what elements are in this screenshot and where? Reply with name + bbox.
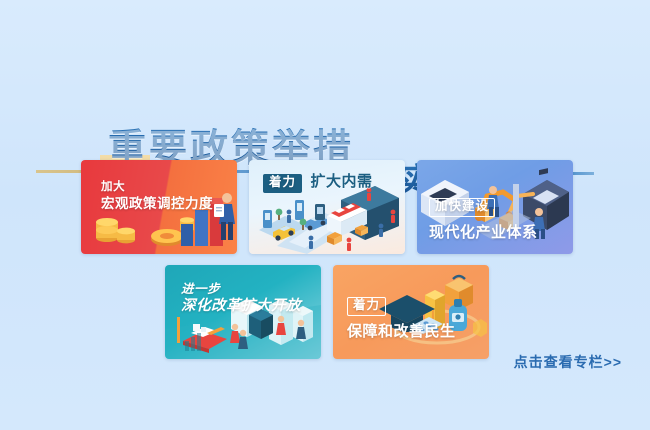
- card-expand-demand[interactable]: 着力 扩大内需: [249, 160, 405, 254]
- card-macro-policy-line2: 宏观政策调控力度: [101, 195, 213, 212]
- card-macro-policy-label: 加大 宏观政策调控力度: [101, 180, 213, 212]
- title-area: 重要政策举措 及实施效果: [0, 55, 650, 150]
- card-macro-policy[interactable]: 加大 宏观政策调控力度: [81, 160, 237, 254]
- card-peoples-livelihood-line2: 保障和改善民生: [347, 322, 456, 341]
- card-modern-industry-line1: 加快建设: [429, 198, 495, 217]
- card-peoples-livelihood[interactable]: 着力 保障和改善民生: [333, 265, 489, 359]
- card-modern-industry-line2: 现代化产业体系: [429, 223, 538, 242]
- card-modern-industry[interactable]: 加快建设 现代化产业体系: [417, 160, 573, 254]
- card-expand-demand-line2: 扩大内需: [310, 172, 372, 191]
- card-deepen-reform-line1: 进一步: [181, 281, 301, 297]
- card-peoples-livelihood-label: 着力 保障和改善民生: [347, 295, 456, 341]
- card-deepen-reform-line2: 深化改革扩大开放: [181, 297, 301, 316]
- card-modern-industry-label: 加快建设 现代化产业体系: [429, 196, 538, 242]
- card-macro-policy-line1: 加大: [101, 180, 213, 195]
- card-expand-demand-label: 着力 扩大内需: [263, 172, 372, 196]
- card-deepen-reform[interactable]: 进一步 深化改革扩大开放: [165, 265, 321, 359]
- card-deepen-reform-label: 进一步 深化改革扩大开放: [181, 281, 301, 316]
- card-peoples-livelihood-line1: 着力: [347, 297, 386, 316]
- card-expand-demand-line1: 着力: [263, 174, 302, 193]
- view-column-link[interactable]: 点击查看专栏>>: [514, 352, 622, 372]
- policy-banner: 重要政策举措 及实施效果: [0, 0, 650, 430]
